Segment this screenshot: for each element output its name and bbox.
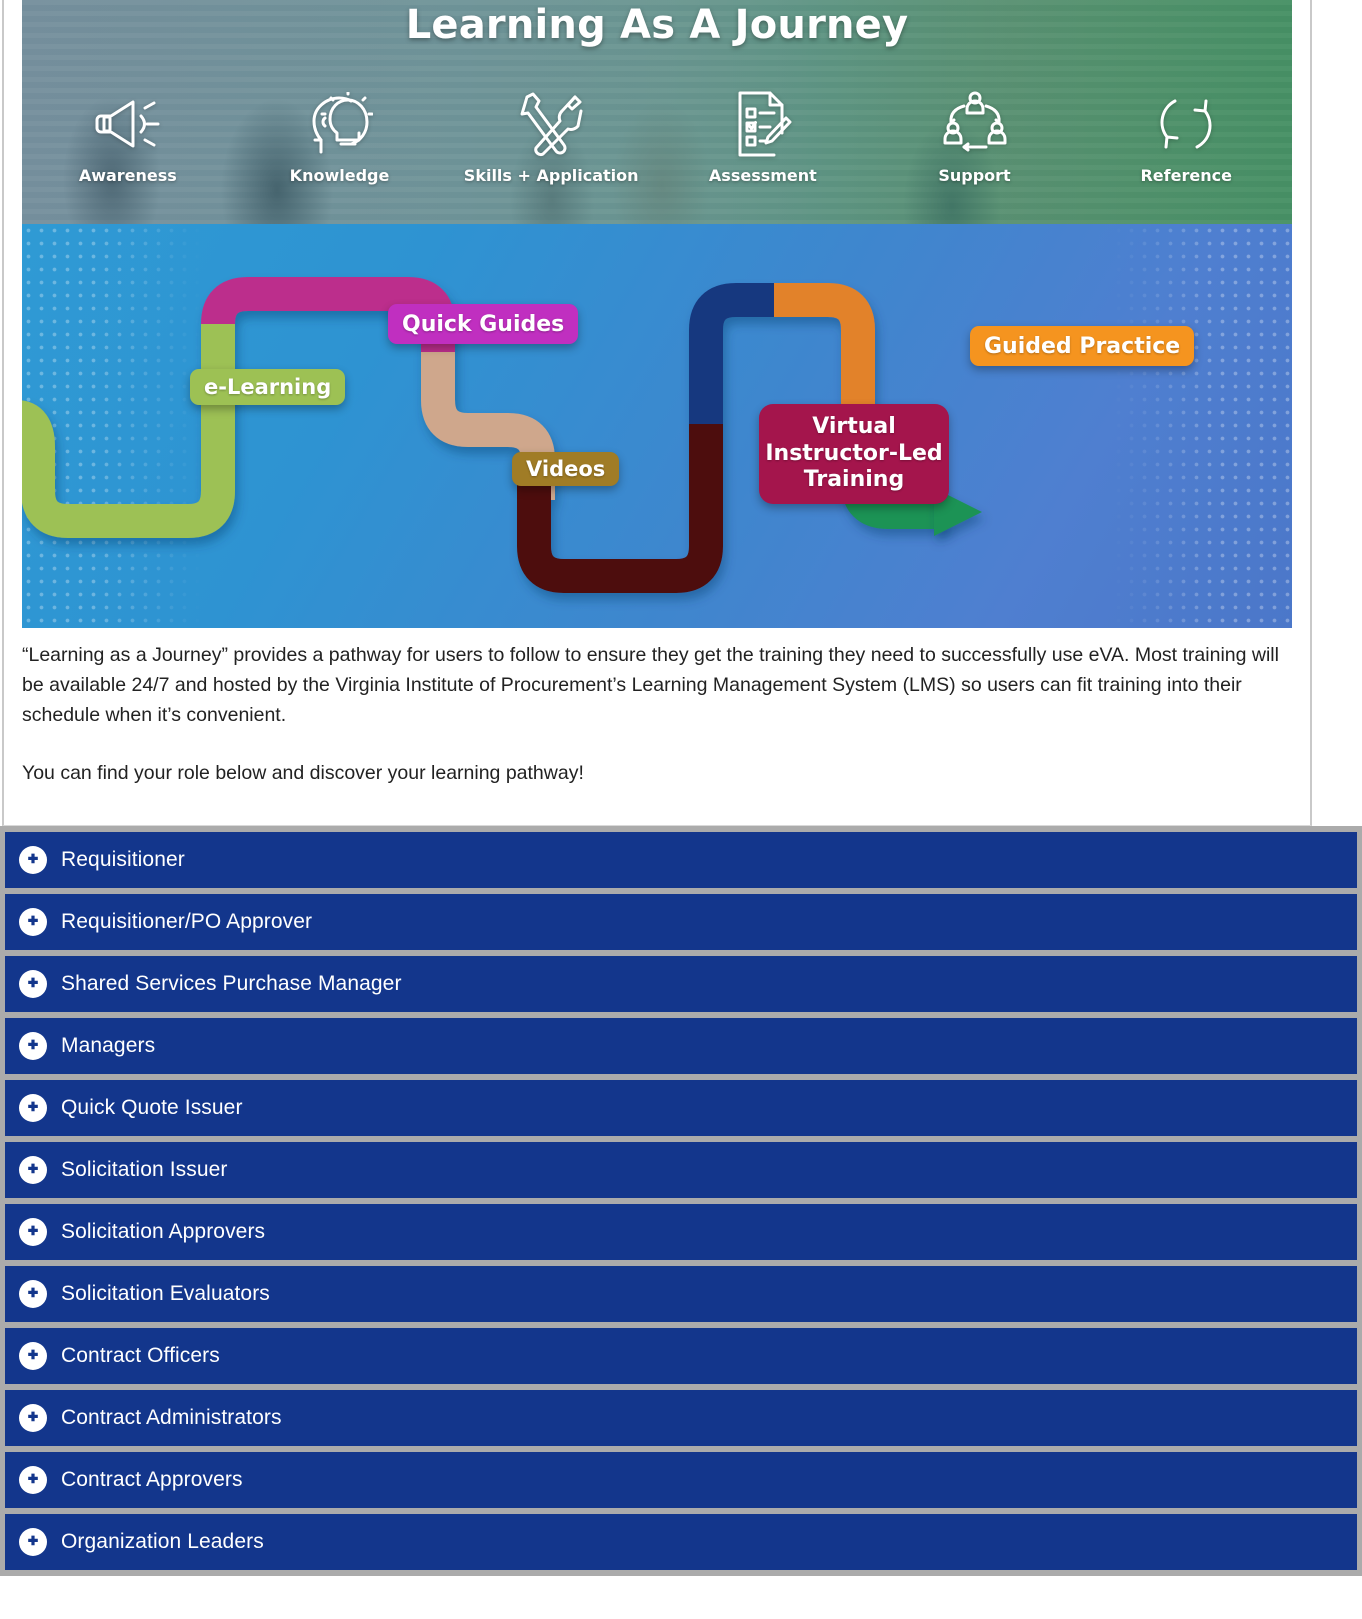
stage-reference: Reference [1080,88,1292,185]
plus-glyph [25,1038,41,1054]
journey-node-quick-guides: Quick Guides [388,304,578,344]
accordion-item-label: Requisitioner [61,848,185,872]
stage-awareness: Awareness [22,88,234,185]
accordion-item-managers[interactable]: Managers [5,1018,1357,1074]
tools-icon [518,88,584,160]
accordion-item-contract-administrators[interactable]: Contract Administrators [5,1390,1357,1446]
accordion-item-label: Quick Quote Issuer [61,1096,243,1120]
accordion-item-shared-services-purchase-manager[interactable]: Shared Services Purchase Manager [5,956,1357,1012]
expand-plus-icon[interactable] [19,970,47,998]
plus-glyph [25,914,41,930]
stage-label: Awareness [79,166,177,185]
page-root: Learning As A Journey Awareness [0,0,1362,1619]
accordion-item-quick-quote-issuer[interactable]: Quick Quote Issuer [5,1080,1357,1136]
intro-paragraph-2: You can find your role below and discove… [22,758,1292,788]
accordion-item-contract-approvers[interactable]: Contract Approvers [5,1452,1357,1508]
journey-path-graphic [22,224,1292,628]
vilt-line-1: Virtual [812,414,896,441]
accordion-item-label: Shared Services Purchase Manager [61,972,402,996]
accordion-item-requisitioner-po-approver[interactable]: Requisitioner/PO Approver [5,894,1357,950]
stage-label: Reference [1140,166,1231,185]
plus-glyph [25,1162,41,1178]
expand-plus-icon[interactable] [19,908,47,936]
accordion-item-label: Contract Officers [61,1344,220,1368]
plus-glyph [25,976,41,992]
accordion-item-label: Solicitation Approvers [61,1220,265,1244]
stage-assessment: Assessment [657,88,869,185]
accordion-item-label: Contract Administrators [61,1406,282,1430]
stage-knowledge: Knowledge [234,88,446,185]
megaphone-icon [91,88,165,160]
accordion-item-requisitioner[interactable]: Requisitioner [5,832,1357,888]
plus-glyph [25,1472,41,1488]
plus-glyph [25,1224,41,1240]
intro-paragraph-1: “Learning as a Journey” provides a pathw… [22,640,1292,730]
accordion-item-label: Requisitioner/PO Approver [61,910,312,934]
stage-label: Skills + Application [464,166,639,185]
expand-plus-icon[interactable] [19,1466,47,1494]
checklist-pencil-icon [732,88,794,160]
role-accordion: RequisitionerRequisitioner/PO ApproverSh… [0,826,1362,1576]
banner-title: Learning As A Journey [22,2,1292,48]
expand-plus-icon[interactable] [19,1156,47,1184]
plus-glyph [25,1286,41,1302]
plus-glyph [25,1348,41,1364]
accordion-item-solicitation-issuer[interactable]: Solicitation Issuer [5,1142,1357,1198]
journey-node-guided-practice: Guided Practice [970,326,1194,366]
expand-plus-icon[interactable] [19,1404,47,1432]
expand-plus-icon[interactable] [19,1094,47,1122]
accordion-item-organization-leaders[interactable]: Organization Leaders [5,1514,1357,1570]
journey-node-elearning: e-Learning [190,369,345,405]
accordion-item-contract-officers[interactable]: Contract Officers [5,1328,1357,1384]
accordion-item-solicitation-evaluators[interactable]: Solicitation Evaluators [5,1266,1357,1322]
accordion-item-label: Contract Approvers [61,1468,243,1492]
vilt-line-3: Training [804,467,904,494]
journey-pathway-diagram: e-Learning Quick Guides Videos Virtual I… [22,224,1292,628]
plus-glyph [25,1410,41,1426]
accordion-item-solicitation-approvers[interactable]: Solicitation Approvers [5,1204,1357,1260]
expand-plus-icon[interactable] [19,1218,47,1246]
expand-plus-icon[interactable] [19,1280,47,1308]
people-network-icon [942,88,1008,160]
stage-icon-row: Awareness Knowledge [22,88,1292,185]
accordion-item-label: Solicitation Evaluators [61,1282,270,1306]
intro-copy: “Learning as a Journey” provides a pathw… [22,640,1292,788]
stage-skills-application: Skills + Application [445,88,657,185]
vilt-line-2: Instructor-Led [765,441,942,468]
plus-glyph [25,1100,41,1116]
refresh-cycle-icon [1153,88,1219,160]
expand-plus-icon[interactable] [19,1032,47,1060]
expand-plus-icon[interactable] [19,1528,47,1556]
accordion-item-label: Solicitation Issuer [61,1158,227,1182]
lightbulb-head-icon [307,88,373,160]
expand-plus-icon[interactable] [19,846,47,874]
expand-plus-icon[interactable] [19,1342,47,1370]
plus-glyph [25,852,41,868]
stage-label: Support [938,166,1010,185]
accordion-item-label: Managers [61,1034,155,1058]
stage-label: Knowledge [290,166,390,185]
learning-journey-banner: Learning As A Journey Awareness [22,0,1292,224]
accordion-item-label: Organization Leaders [61,1530,264,1554]
stage-label: Assessment [709,166,817,185]
journey-node-videos: Videos [512,452,619,486]
plus-glyph [25,1534,41,1550]
stage-support: Support [869,88,1081,185]
journey-node-virtual-instructor-led-training: Virtual Instructor-Led Training [759,404,949,504]
